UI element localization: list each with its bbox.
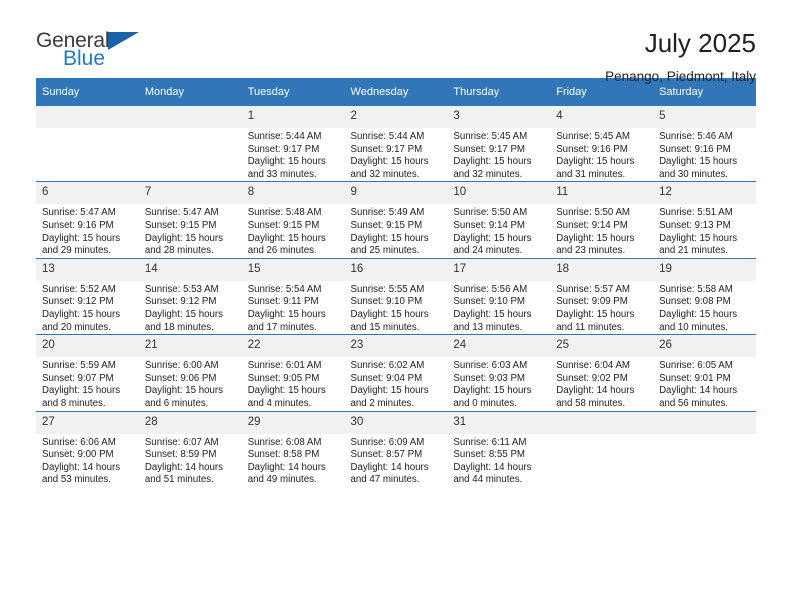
- sunrise-text: Sunrise: 5:44 AM: [351, 131, 442, 144]
- brand-name-bottom: Blue: [63, 48, 105, 69]
- daylight-text-line1: Daylight: 15 hours: [42, 309, 133, 322]
- daylight-text-line1: Daylight: 15 hours: [351, 309, 442, 322]
- calendar-day-cell[interactable]: 7Sunrise: 5:47 AMSunset: 9:15 PMDaylight…: [139, 182, 242, 258]
- day-details: Sunrise: 6:09 AMSunset: 8:57 PMDaylight:…: [345, 434, 448, 487]
- day-details: Sunrise: 6:02 AMSunset: 9:04 PMDaylight:…: [345, 357, 448, 410]
- day-details: Sunrise: 6:04 AMSunset: 9:02 PMDaylight:…: [550, 357, 653, 410]
- calendar-body: 1Sunrise: 5:44 AMSunset: 9:17 PMDaylight…: [36, 106, 756, 487]
- sunset-text: Sunset: 9:06 PM: [145, 373, 236, 386]
- daylight-text-line2: and 47 minutes.: [351, 474, 442, 487]
- daylight-text-line1: Daylight: 15 hours: [42, 385, 133, 398]
- day-number: 2: [345, 106, 448, 128]
- daylight-text-line2: and 31 minutes.: [556, 169, 647, 182]
- sunrise-text: Sunrise: 5:44 AM: [248, 131, 339, 144]
- calendar-day-cell[interactable]: 24Sunrise: 6:03 AMSunset: 9:03 PMDayligh…: [447, 335, 550, 411]
- day-number: 9: [345, 182, 448, 204]
- daylight-text-line1: Daylight: 15 hours: [248, 309, 339, 322]
- sunset-text: Sunset: 9:03 PM: [453, 373, 544, 386]
- daylight-text-line2: and 28 minutes.: [145, 245, 236, 258]
- day-details: Sunrise: 6:06 AMSunset: 9:00 PMDaylight:…: [36, 434, 139, 487]
- sunrise-text: Sunrise: 5:57 AM: [556, 284, 647, 297]
- daylight-text-line1: Daylight: 15 hours: [453, 233, 544, 246]
- calendar-day-cell[interactable]: 17Sunrise: 5:56 AMSunset: 9:10 PMDayligh…: [447, 258, 550, 334]
- daylight-text-line2: and 30 minutes.: [659, 169, 750, 182]
- daylight-text-line1: Daylight: 15 hours: [351, 233, 442, 246]
- daylight-text-line1: Daylight: 14 hours: [556, 385, 647, 398]
- sunset-text: Sunset: 9:14 PM: [556, 220, 647, 233]
- day-details: Sunrise: 5:51 AMSunset: 9:13 PMDaylight:…: [653, 204, 756, 257]
- daylight-text-line2: and 58 minutes.: [556, 398, 647, 411]
- daylight-text-line2: and 32 minutes.: [453, 169, 544, 182]
- calendar-day-cell[interactable]: 10Sunrise: 5:50 AMSunset: 9:14 PMDayligh…: [447, 182, 550, 258]
- calendar-day-cell[interactable]: 3Sunrise: 5:45 AMSunset: 9:17 PMDaylight…: [447, 106, 550, 182]
- daylight-text-line1: Daylight: 15 hours: [453, 309, 544, 322]
- day-number: 13: [36, 259, 139, 281]
- sunrise-text: Sunrise: 6:06 AM: [42, 437, 133, 450]
- calendar-day-cell[interactable]: 8Sunrise: 5:48 AMSunset: 9:15 PMDaylight…: [242, 182, 345, 258]
- calendar-table: Sunday Monday Tuesday Wednesday Thursday…: [36, 78, 756, 487]
- sunset-text: Sunset: 8:59 PM: [145, 449, 236, 462]
- day-number: 5: [653, 106, 756, 128]
- calendar-week-row: 13Sunrise: 5:52 AMSunset: 9:12 PMDayligh…: [36, 258, 756, 334]
- daylight-text-line1: Daylight: 14 hours: [453, 462, 544, 475]
- calendar-week-row: 1Sunrise: 5:44 AMSunset: 9:17 PMDaylight…: [36, 106, 756, 182]
- day-number: 20: [36, 335, 139, 357]
- daylight-text-line1: Daylight: 14 hours: [351, 462, 442, 475]
- day-details: Sunrise: 6:03 AMSunset: 9:03 PMDaylight:…: [447, 357, 550, 410]
- daylight-text-line1: Daylight: 15 hours: [248, 156, 339, 169]
- day-number: 11: [550, 182, 653, 204]
- sunrise-text: Sunrise: 5:53 AM: [145, 284, 236, 297]
- sunrise-text: Sunrise: 5:59 AM: [42, 360, 133, 373]
- day-number: 8: [242, 182, 345, 204]
- calendar-day-cell[interactable]: 14Sunrise: 5:53 AMSunset: 9:12 PMDayligh…: [139, 258, 242, 334]
- day-number: 10: [447, 182, 550, 204]
- daylight-text-line2: and 53 minutes.: [42, 474, 133, 487]
- sunset-text: Sunset: 9:13 PM: [659, 220, 750, 233]
- calendar-day-cell-empty: [653, 411, 756, 487]
- calendar-day-cell[interactable]: 11Sunrise: 5:50 AMSunset: 9:14 PMDayligh…: [550, 182, 653, 258]
- daylight-text-line2: and 15 minutes.: [351, 322, 442, 335]
- daylight-text-line2: and 4 minutes.: [248, 398, 339, 411]
- day-number: 30: [345, 412, 448, 434]
- day-number: 21: [139, 335, 242, 357]
- day-details: Sunrise: 6:05 AMSunset: 9:01 PMDaylight:…: [653, 357, 756, 410]
- day-details: Sunrise: 5:53 AMSunset: 9:12 PMDaylight:…: [139, 281, 242, 334]
- day-details: Sunrise: 6:11 AMSunset: 8:55 PMDaylight:…: [447, 434, 550, 487]
- sunset-text: Sunset: 9:14 PM: [453, 220, 544, 233]
- daylight-text-line2: and 24 minutes.: [453, 245, 544, 258]
- calendar-day-cell[interactable]: 1Sunrise: 5:44 AMSunset: 9:17 PMDaylight…: [242, 106, 345, 182]
- calendar-day-cell[interactable]: 13Sunrise: 5:52 AMSunset: 9:12 PMDayligh…: [36, 258, 139, 334]
- day-details: Sunrise: 5:45 AMSunset: 9:16 PMDaylight:…: [550, 128, 653, 181]
- daylight-text-line1: Daylight: 15 hours: [42, 233, 133, 246]
- sunset-text: Sunset: 9:17 PM: [248, 144, 339, 157]
- daylight-text-line1: Daylight: 15 hours: [659, 156, 750, 169]
- day-details: Sunrise: 5:55 AMSunset: 9:10 PMDaylight:…: [345, 281, 448, 334]
- daylight-text-line1: Daylight: 15 hours: [351, 156, 442, 169]
- daylight-text-line2: and 29 minutes.: [42, 245, 133, 258]
- day-details: Sunrise: 5:47 AMSunset: 9:15 PMDaylight:…: [139, 204, 242, 257]
- sunrise-text: Sunrise: 5:56 AM: [453, 284, 544, 297]
- day-number: 28: [139, 412, 242, 434]
- calendar-day-cell[interactable]: 9Sunrise: 5:49 AMSunset: 9:15 PMDaylight…: [345, 182, 448, 258]
- daylight-text-line2: and 33 minutes.: [248, 169, 339, 182]
- calendar-day-cell-empty: [36, 106, 139, 182]
- daylight-text-line1: Daylight: 15 hours: [453, 156, 544, 169]
- day-number: 23: [345, 335, 448, 357]
- sunrise-text: Sunrise: 6:11 AM: [453, 437, 544, 450]
- day-details: Sunrise: 5:50 AMSunset: 9:14 PMDaylight:…: [550, 204, 653, 257]
- daylight-text-line2: and 32 minutes.: [351, 169, 442, 182]
- day-details: Sunrise: 5:59 AMSunset: 9:07 PMDaylight:…: [36, 357, 139, 410]
- calendar-day-cell[interactable]: 4Sunrise: 5:45 AMSunset: 9:16 PMDaylight…: [550, 106, 653, 182]
- page-title: July 2025: [605, 30, 756, 57]
- daylight-text-line2: and 23 minutes.: [556, 245, 647, 258]
- daylight-text-line2: and 13 minutes.: [453, 322, 544, 335]
- day-details: Sunrise: 5:48 AMSunset: 9:15 PMDaylight:…: [242, 204, 345, 257]
- sunset-text: Sunset: 8:55 PM: [453, 449, 544, 462]
- day-details: Sunrise: 6:01 AMSunset: 9:05 PMDaylight:…: [242, 357, 345, 410]
- daylight-text-line1: Daylight: 14 hours: [42, 462, 133, 475]
- daylight-text-line1: Daylight: 15 hours: [659, 309, 750, 322]
- day-number: 27: [36, 412, 139, 434]
- sunrise-text: Sunrise: 5:47 AM: [42, 207, 133, 220]
- day-number: 6: [36, 182, 139, 204]
- day-number: 24: [447, 335, 550, 357]
- daylight-text-line2: and 26 minutes.: [248, 245, 339, 258]
- day-number: [550, 412, 653, 434]
- daylight-text-line1: Daylight: 15 hours: [556, 309, 647, 322]
- day-details: Sunrise: 5:47 AMSunset: 9:16 PMDaylight:…: [36, 204, 139, 257]
- calendar-day-cell[interactable]: 27Sunrise: 6:06 AMSunset: 9:00 PMDayligh…: [36, 411, 139, 487]
- day-number: 17: [447, 259, 550, 281]
- daylight-text-line2: and 6 minutes.: [145, 398, 236, 411]
- weekday-header-sunday: Sunday: [36, 78, 139, 106]
- day-details: Sunrise: 6:08 AMSunset: 8:58 PMDaylight:…: [242, 434, 345, 487]
- daylight-text-line2: and 17 minutes.: [248, 322, 339, 335]
- sunrise-text: Sunrise: 6:09 AM: [351, 437, 442, 450]
- sunset-text: Sunset: 9:17 PM: [453, 144, 544, 157]
- sunrise-text: Sunrise: 6:02 AM: [351, 360, 442, 373]
- sunrise-text: Sunrise: 6:07 AM: [145, 437, 236, 450]
- day-details: Sunrise: 5:54 AMSunset: 9:11 PMDaylight:…: [242, 281, 345, 334]
- day-details: Sunrise: 5:45 AMSunset: 9:17 PMDaylight:…: [447, 128, 550, 181]
- sunset-text: Sunset: 8:58 PM: [248, 449, 339, 462]
- sunrise-text: Sunrise: 6:00 AM: [145, 360, 236, 373]
- sunrise-text: Sunrise: 5:50 AM: [453, 207, 544, 220]
- sunset-text: Sunset: 9:10 PM: [453, 296, 544, 309]
- sunset-text: Sunset: 9:04 PM: [351, 373, 442, 386]
- day-details: Sunrise: 5:56 AMSunset: 9:10 PMDaylight:…: [447, 281, 550, 334]
- day-number: 26: [653, 335, 756, 357]
- calendar-day-cell[interactable]: 20Sunrise: 5:59 AMSunset: 9:07 PMDayligh…: [36, 335, 139, 411]
- calendar-day-cell[interactable]: 6Sunrise: 5:47 AMSunset: 9:16 PMDaylight…: [36, 182, 139, 258]
- daylight-text-line2: and 8 minutes.: [42, 398, 133, 411]
- day-number: 14: [139, 259, 242, 281]
- sunrise-text: Sunrise: 6:08 AM: [248, 437, 339, 450]
- brand-logo[interactable]: General Blue: [36, 30, 176, 80]
- daylight-text-line2: and 0 minutes.: [453, 398, 544, 411]
- calendar-day-cell[interactable]: 21Sunrise: 6:00 AMSunset: 9:06 PMDayligh…: [139, 335, 242, 411]
- calendar-week-row: 27Sunrise: 6:06 AMSunset: 9:00 PMDayligh…: [36, 411, 756, 487]
- sunrise-text: Sunrise: 5:45 AM: [556, 131, 647, 144]
- daylight-text-line1: Daylight: 15 hours: [351, 385, 442, 398]
- weekday-header-wednesday: Wednesday: [345, 78, 448, 106]
- day-number: [139, 106, 242, 128]
- daylight-text-line1: Daylight: 14 hours: [145, 462, 236, 475]
- sunrise-text: Sunrise: 5:45 AM: [453, 131, 544, 144]
- day-number: 29: [242, 412, 345, 434]
- daylight-text-line1: Daylight: 15 hours: [556, 233, 647, 246]
- day-number: 22: [242, 335, 345, 357]
- day-details: Sunrise: 5:58 AMSunset: 9:08 PMDaylight:…: [653, 281, 756, 334]
- day-details: Sunrise: 6:00 AMSunset: 9:06 PMDaylight:…: [139, 357, 242, 410]
- daylight-text-line2: and 44 minutes.: [453, 474, 544, 487]
- title-block: July 2025 Penango, Piedmont, Italy: [605, 30, 756, 84]
- day-number: 12: [653, 182, 756, 204]
- day-details: Sunrise: 5:49 AMSunset: 9:15 PMDaylight:…: [345, 204, 448, 257]
- calendar-day-cell-empty: [550, 411, 653, 487]
- daylight-text-line2: and 10 minutes.: [659, 322, 750, 335]
- sunset-text: Sunset: 9:07 PM: [42, 373, 133, 386]
- day-details: Sunrise: 5:50 AMSunset: 9:14 PMDaylight:…: [447, 204, 550, 257]
- sunrise-text: Sunrise: 6:03 AM: [453, 360, 544, 373]
- calendar-day-cell[interactable]: 15Sunrise: 5:54 AMSunset: 9:11 PMDayligh…: [242, 258, 345, 334]
- calendar-page: General Blue July 2025 Penango, Piedmont…: [0, 0, 792, 612]
- brand-triangle-icon: [108, 32, 139, 50]
- sunrise-text: Sunrise: 5:46 AM: [659, 131, 750, 144]
- sunset-text: Sunset: 9:16 PM: [556, 144, 647, 157]
- sunrise-text: Sunrise: 5:47 AM: [145, 207, 236, 220]
- sunset-text: Sunset: 9:17 PM: [351, 144, 442, 157]
- sunrise-text: Sunrise: 6:04 AM: [556, 360, 647, 373]
- sunset-text: Sunset: 9:12 PM: [145, 296, 236, 309]
- daylight-text-line1: Daylight: 15 hours: [556, 156, 647, 169]
- sunrise-text: Sunrise: 5:49 AM: [351, 207, 442, 220]
- sunset-text: Sunset: 9:16 PM: [659, 144, 750, 157]
- calendar-day-cell[interactable]: 12Sunrise: 5:51 AMSunset: 9:13 PMDayligh…: [653, 182, 756, 258]
- calendar-day-cell[interactable]: 2Sunrise: 5:44 AMSunset: 9:17 PMDaylight…: [345, 106, 448, 182]
- sunset-text: Sunset: 9:15 PM: [145, 220, 236, 233]
- day-number: 1: [242, 106, 345, 128]
- calendar-day-cell[interactable]: 19Sunrise: 5:58 AMSunset: 9:08 PMDayligh…: [653, 258, 756, 334]
- sunrise-text: Sunrise: 5:54 AM: [248, 284, 339, 297]
- weekday-header-monday: Monday: [139, 78, 242, 106]
- daylight-text-line1: Daylight: 15 hours: [145, 385, 236, 398]
- sunrise-text: Sunrise: 5:52 AM: [42, 284, 133, 297]
- daylight-text-line1: Daylight: 15 hours: [145, 233, 236, 246]
- daylight-text-line2: and 51 minutes.: [145, 474, 236, 487]
- day-number: 3: [447, 106, 550, 128]
- daylight-text-line2: and 2 minutes.: [351, 398, 442, 411]
- sunset-text: Sunset: 9:02 PM: [556, 373, 647, 386]
- day-number: [653, 412, 756, 434]
- daylight-text-line1: Daylight: 14 hours: [659, 385, 750, 398]
- day-details: Sunrise: 6:07 AMSunset: 8:59 PMDaylight:…: [139, 434, 242, 487]
- daylight-text-line1: Daylight: 15 hours: [453, 385, 544, 398]
- calendar-day-cell[interactable]: 30Sunrise: 6:09 AMSunset: 8:57 PMDayligh…: [345, 411, 448, 487]
- calendar-day-cell[interactable]: 31Sunrise: 6:11 AMSunset: 8:55 PMDayligh…: [447, 411, 550, 487]
- sunset-text: Sunset: 9:15 PM: [248, 220, 339, 233]
- sunrise-text: Sunrise: 5:48 AM: [248, 207, 339, 220]
- calendar-day-cell[interactable]: 26Sunrise: 6:05 AMSunset: 9:01 PMDayligh…: [653, 335, 756, 411]
- daylight-text-line2: and 56 minutes.: [659, 398, 750, 411]
- day-details: Sunrise: 5:52 AMSunset: 9:12 PMDaylight:…: [36, 281, 139, 334]
- daylight-text-line1: Daylight: 14 hours: [248, 462, 339, 475]
- day-details: Sunrise: 5:44 AMSunset: 9:17 PMDaylight:…: [242, 128, 345, 181]
- sunset-text: Sunset: 9:15 PM: [351, 220, 442, 233]
- calendar-week-row: 20Sunrise: 5:59 AMSunset: 9:07 PMDayligh…: [36, 335, 756, 411]
- page-header: General Blue July 2025 Penango, Piedmont…: [36, 0, 756, 66]
- daylight-text-line2: and 21 minutes.: [659, 245, 750, 258]
- calendar-day-cell[interactable]: 25Sunrise: 6:04 AMSunset: 9:02 PMDayligh…: [550, 335, 653, 411]
- calendar-day-cell[interactable]: 16Sunrise: 5:55 AMSunset: 9:10 PMDayligh…: [345, 258, 448, 334]
- sunset-text: Sunset: 9:01 PM: [659, 373, 750, 386]
- calendar-day-cell[interactable]: 29Sunrise: 6:08 AMSunset: 8:58 PMDayligh…: [242, 411, 345, 487]
- sunset-text: Sunset: 9:11 PM: [248, 296, 339, 309]
- day-number: [36, 106, 139, 128]
- calendar-day-cell[interactable]: 18Sunrise: 5:57 AMSunset: 9:09 PMDayligh…: [550, 258, 653, 334]
- sunrise-text: Sunrise: 6:01 AM: [248, 360, 339, 373]
- daylight-text-line1: Daylight: 15 hours: [248, 233, 339, 246]
- sunrise-text: Sunrise: 5:51 AM: [659, 207, 750, 220]
- daylight-text-line2: and 11 minutes.: [556, 322, 647, 335]
- sunrise-text: Sunrise: 5:50 AM: [556, 207, 647, 220]
- calendar-day-cell[interactable]: 22Sunrise: 6:01 AMSunset: 9:05 PMDayligh…: [242, 335, 345, 411]
- day-details: Sunrise: 5:44 AMSunset: 9:17 PMDaylight:…: [345, 128, 448, 181]
- daylight-text-line1: Daylight: 15 hours: [248, 385, 339, 398]
- daylight-text-line1: Daylight: 15 hours: [145, 309, 236, 322]
- calendar-day-cell[interactable]: 23Sunrise: 6:02 AMSunset: 9:04 PMDayligh…: [345, 335, 448, 411]
- day-number: 19: [653, 259, 756, 281]
- calendar-day-cell[interactable]: 5Sunrise: 5:46 AMSunset: 9:16 PMDaylight…: [653, 106, 756, 182]
- sunrise-text: Sunrise: 5:55 AM: [351, 284, 442, 297]
- calendar-day-cell[interactable]: 28Sunrise: 6:07 AMSunset: 8:59 PMDayligh…: [139, 411, 242, 487]
- day-details: Sunrise: 5:46 AMSunset: 9:16 PMDaylight:…: [653, 128, 756, 181]
- day-number: 31: [447, 412, 550, 434]
- day-number: 15: [242, 259, 345, 281]
- weekday-header-tuesday: Tuesday: [242, 78, 345, 106]
- sunset-text: Sunset: 9:05 PM: [248, 373, 339, 386]
- daylight-text-line2: and 20 minutes.: [42, 322, 133, 335]
- sunset-text: Sunset: 8:57 PM: [351, 449, 442, 462]
- day-number: 4: [550, 106, 653, 128]
- day-number: 16: [345, 259, 448, 281]
- sunset-text: Sunset: 9:00 PM: [42, 449, 133, 462]
- calendar-day-cell-empty: [139, 106, 242, 182]
- page-subtitle: Penango, Piedmont, Italy: [605, 69, 756, 84]
- sunset-text: Sunset: 9:09 PM: [556, 296, 647, 309]
- daylight-text-line2: and 25 minutes.: [351, 245, 442, 258]
- daylight-text-line1: Daylight: 15 hours: [659, 233, 750, 246]
- sunset-text: Sunset: 9:16 PM: [42, 220, 133, 233]
- sunset-text: Sunset: 9:12 PM: [42, 296, 133, 309]
- day-number: 25: [550, 335, 653, 357]
- sunrise-text: Sunrise: 5:58 AM: [659, 284, 750, 297]
- daylight-text-line2: and 18 minutes.: [145, 322, 236, 335]
- daylight-text-line2: and 49 minutes.: [248, 474, 339, 487]
- day-details: Sunrise: 5:57 AMSunset: 9:09 PMDaylight:…: [550, 281, 653, 334]
- day-number: 7: [139, 182, 242, 204]
- day-number: 18: [550, 259, 653, 281]
- sunset-text: Sunset: 9:10 PM: [351, 296, 442, 309]
- calendar-week-row: 6Sunrise: 5:47 AMSunset: 9:16 PMDaylight…: [36, 182, 756, 258]
- weekday-header-thursday: Thursday: [447, 78, 550, 106]
- sunset-text: Sunset: 9:08 PM: [659, 296, 750, 309]
- sunrise-text: Sunrise: 6:05 AM: [659, 360, 750, 373]
